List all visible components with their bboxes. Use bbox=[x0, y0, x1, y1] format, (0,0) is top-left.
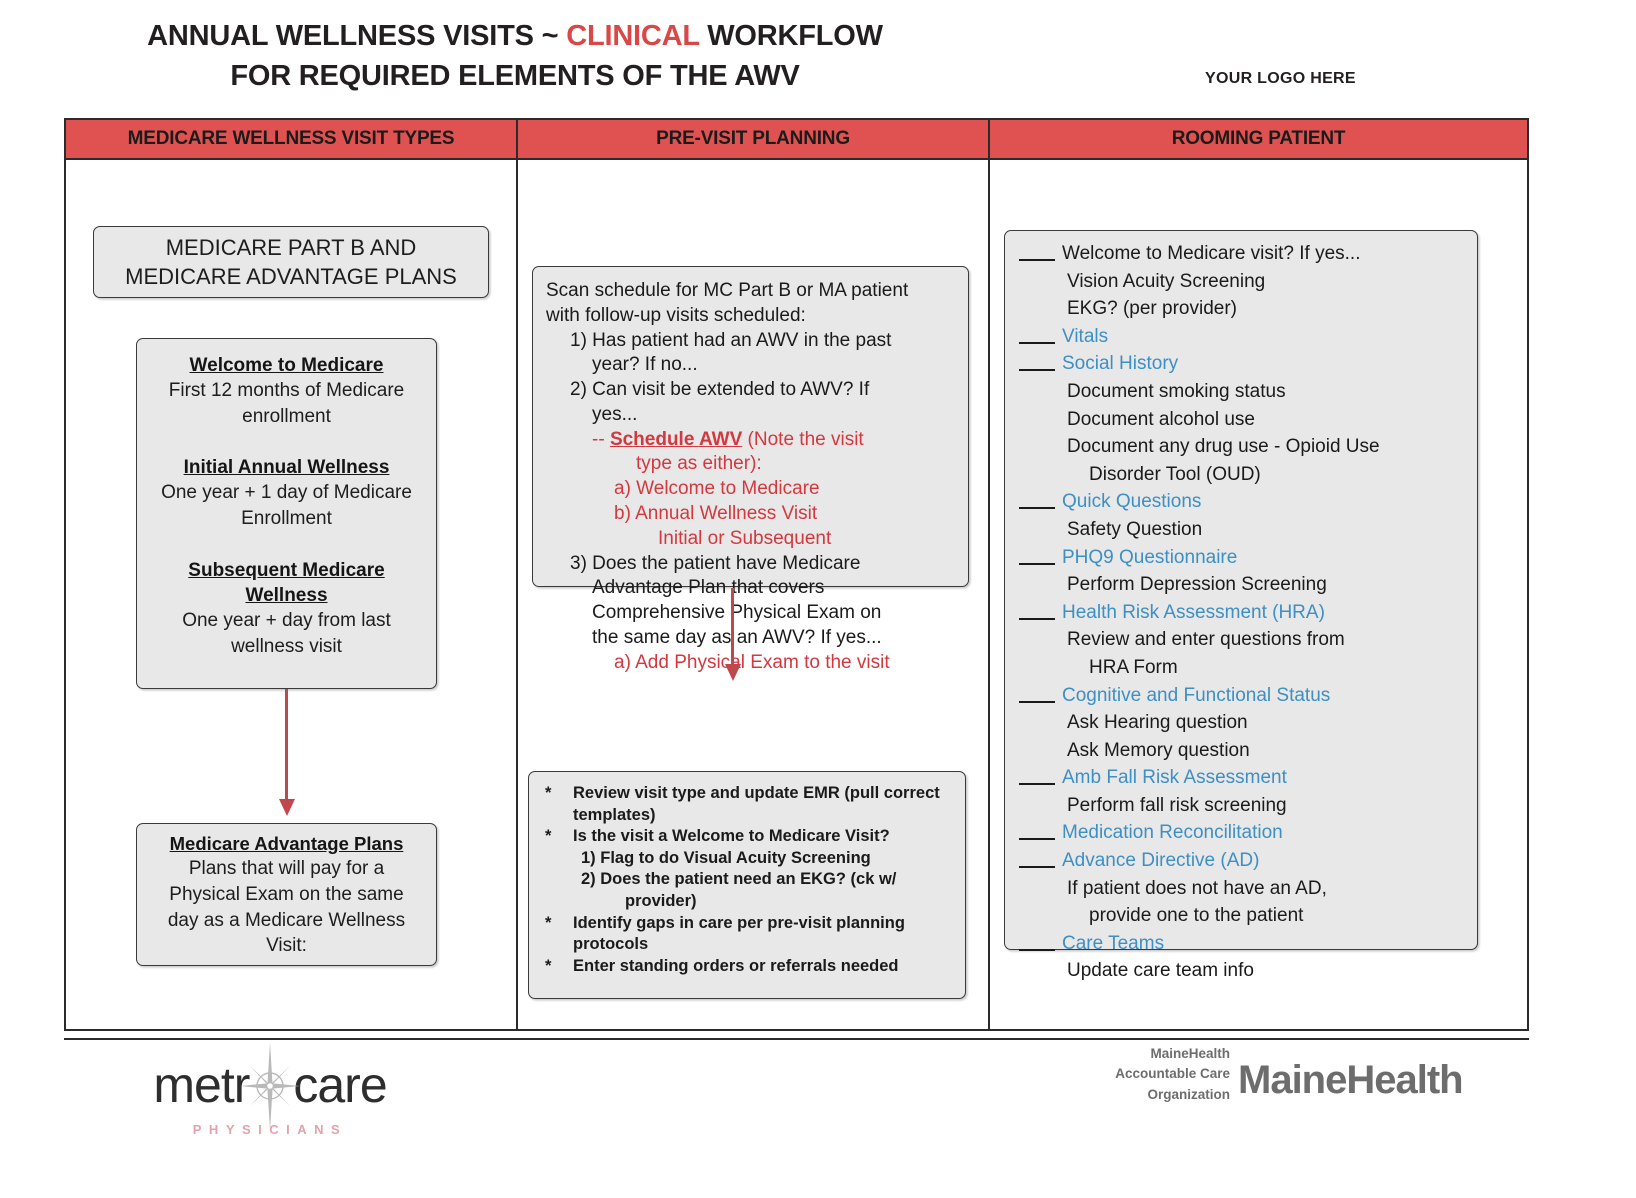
plans-line-2: MEDICARE ADVANTAGE PLANS bbox=[125, 262, 457, 291]
review-bullet-2-sub-2-cont: provider) bbox=[541, 891, 953, 913]
checklist-section-heading: Social History bbox=[1062, 350, 1178, 378]
column-header-row: MEDICARE WELLNESS VISIT TYPES PRE-VISIT … bbox=[66, 120, 1527, 160]
checklist-blank-line[interactable] bbox=[1019, 838, 1055, 840]
metrocare-logo: metrcare PHYSICIANS bbox=[120, 1048, 420, 1143]
checklist-blank-line[interactable] bbox=[1019, 342, 1055, 344]
checklist-blank-line[interactable] bbox=[1019, 949, 1055, 951]
checklist-item-text: Document any drug use - Opioid Use bbox=[1067, 433, 1380, 461]
checklist-item-text: Perform Depression Screening bbox=[1067, 571, 1327, 599]
schedule-awv-line-cont: type as either): bbox=[546, 452, 955, 477]
checklist-row: provide one to the patient bbox=[1005, 903, 1477, 931]
checklist-row: Amb Fall Risk Assessment bbox=[1005, 765, 1477, 793]
title-part-clinical: CLINICAL bbox=[566, 20, 699, 52]
column-header-visit-types: MEDICARE WELLNESS VISIT TYPES bbox=[66, 120, 518, 158]
review-bullet-4: *Enter standing orders or referrals need… bbox=[541, 956, 953, 978]
bullet-marker-icon: * bbox=[545, 956, 551, 978]
checklist-item-text: EKG? (per provider) bbox=[1067, 295, 1237, 323]
subsequent-medicare-wellness-heading-1: Subsequent Medicare bbox=[149, 558, 424, 583]
welcome-to-medicare-heading: Welcome to Medicare bbox=[149, 353, 424, 378]
checklist-row: Review and enter questions from bbox=[1005, 627, 1477, 655]
mainehealth-wordmark: MaineHealth bbox=[1238, 1058, 1463, 1103]
scan-step-2: 2) Can visit be extended to AWV? If bbox=[546, 378, 955, 403]
schedule-awv-line: -- Schedule AWV (Note the visit bbox=[546, 428, 955, 453]
box-visit-type-definitions: Welcome to Medicare First 12 months of M… bbox=[136, 338, 437, 689]
checklist-blank-line[interactable] bbox=[1019, 369, 1055, 371]
ma-plans-line-1: Plans that will pay for a bbox=[151, 856, 422, 882]
column-body-row: MEDICARE PART B AND MEDICARE ADVANTAGE P… bbox=[66, 160, 1527, 1029]
review-bullet-3: *Identify gaps in care per pre-visit pla… bbox=[541, 913, 953, 935]
review-bullet-3-cont: protocols bbox=[541, 934, 953, 956]
scan-step-1-cont: year? If no... bbox=[546, 353, 955, 378]
checklist-row: EKG? (per provider) bbox=[1005, 296, 1477, 324]
initial-annual-wellness-heading: Initial Annual Wellness bbox=[149, 455, 424, 480]
title-line-1: ANNUAL WELLNESS VISITS ~ CLINICAL WORKFL… bbox=[0, 16, 1030, 56]
checklist-blank-line[interactable] bbox=[1019, 259, 1055, 261]
review-bullet-1: *Review visit type and update EMR (pull … bbox=[541, 783, 953, 805]
checklist-row: Cognitive and Functional Status bbox=[1005, 683, 1477, 711]
review-bullet-2-text: Is the visit a Welcome to Medicare Visit… bbox=[573, 827, 890, 845]
initial-annual-wellness-desc-1: One year + 1 day of Medicare bbox=[149, 480, 424, 506]
add-physical-exam-line: a) Add Physical Exam to the visit bbox=[546, 651, 955, 676]
checklist-item-text: Document smoking status bbox=[1067, 378, 1286, 406]
checklist-item-text: Disorder Tool (OUD) bbox=[1089, 461, 1261, 489]
checklist-item-text: Welcome to Medicare visit? If yes... bbox=[1062, 240, 1360, 268]
checklist-row: Ask Memory question bbox=[1005, 738, 1477, 766]
checklist-item-text: Perform fall risk screening bbox=[1067, 792, 1287, 820]
scan-line-2: with follow-up visits scheduled: bbox=[546, 304, 955, 329]
checklist-row: Perform Depression Screening bbox=[1005, 572, 1477, 600]
checklist-row: HRA Form bbox=[1005, 655, 1477, 683]
schedule-awv-suffix: (Note the visit bbox=[742, 429, 863, 450]
mainehealth-aco-line-1: MaineHealth bbox=[1060, 1044, 1230, 1064]
schedule-awv-emphasis: Schedule AWV bbox=[610, 429, 742, 450]
box-rooming-checklist: Welcome to Medicare visit? If yes...Visi… bbox=[1004, 230, 1478, 950]
checklist-row: Document alcohol use bbox=[1005, 407, 1477, 435]
review-bullet-4-text: Enter standing orders or referrals neede… bbox=[573, 957, 899, 975]
schedule-awv-option-a: a) Welcome to Medicare bbox=[546, 477, 955, 502]
review-bullet-1-text: Review visit type and update EMR (pull c… bbox=[573, 784, 940, 802]
page-title: ANNUAL WELLNESS VISITS ~ CLINICAL WORKFL… bbox=[0, 16, 1030, 96]
checklist-item-text: Document alcohol use bbox=[1067, 406, 1255, 434]
column-rooming-patient: Welcome to Medicare visit? If yes...Visi… bbox=[990, 160, 1527, 1029]
mainehealth-aco-line-2: Accountable Care bbox=[1060, 1064, 1230, 1084]
checklist-row: Advance Directive (AD) bbox=[1005, 848, 1477, 876]
checklist-row: If patient does not have an AD, bbox=[1005, 876, 1477, 904]
metrocare-word-a: metr bbox=[153, 1057, 249, 1113]
scan-step-3: 3) Does the patient have Medicare bbox=[546, 552, 955, 577]
checklist-blank-line[interactable] bbox=[1019, 783, 1055, 785]
box-medicare-plans: MEDICARE PART B AND MEDICARE ADVANTAGE P… bbox=[93, 226, 489, 298]
scan-line-1: Scan schedule for MC Part B or MA patien… bbox=[546, 279, 955, 304]
checklist-section-heading: Amb Fall Risk Assessment bbox=[1062, 764, 1287, 792]
mainehealth-aco-line-3: Organization bbox=[1060, 1085, 1230, 1105]
title-part-a: ANNUAL WELLNESS VISITS ~ bbox=[147, 20, 566, 52]
checklist-section-heading: Vitals bbox=[1062, 323, 1108, 351]
ma-plans-heading: Medicare Advantage Plans bbox=[151, 832, 422, 856]
checklist-row: Medication Reconcilitation bbox=[1005, 820, 1477, 848]
bullet-marker-icon: * bbox=[545, 826, 551, 848]
checklist-row: Update care team info bbox=[1005, 958, 1477, 986]
checklist-section-heading: Care Teams bbox=[1062, 930, 1164, 958]
scan-step-3-cont-3: the same day as an AWV? If yes... bbox=[546, 626, 955, 651]
checklist-row: Document smoking status bbox=[1005, 379, 1477, 407]
schedule-awv-option-b: b) Annual Wellness Visit bbox=[546, 502, 955, 527]
arrow-down-visit-types bbox=[285, 689, 288, 801]
review-bullet-2: *Is the visit a Welcome to Medicare Visi… bbox=[541, 826, 953, 848]
checklist-section-heading: Quick Questions bbox=[1062, 488, 1201, 516]
metrocare-word-b: care bbox=[293, 1057, 386, 1113]
checklist-item-text: Vision Acuity Screening bbox=[1067, 268, 1265, 296]
box-medicare-advantage-plans: Medicare Advantage Plans Plans that will… bbox=[136, 823, 437, 966]
schedule-awv-option-b-cont: Initial or Subsequent bbox=[546, 527, 955, 552]
spacer bbox=[149, 429, 424, 455]
checklist-section-heading: Health Risk Assessment (HRA) bbox=[1062, 599, 1325, 627]
checklist-item-text: Ask Memory question bbox=[1067, 737, 1250, 765]
checklist-row: Perform fall risk screening bbox=[1005, 793, 1477, 821]
schedule-awv-prefix: -- bbox=[592, 429, 610, 450]
scan-step-1: 1) Has patient had an AWV in the past bbox=[546, 329, 955, 354]
subsequent-medicare-wellness-desc-2: wellness visit bbox=[149, 634, 424, 660]
checklist-row: Social History bbox=[1005, 351, 1477, 379]
checklist-row: PHQ9 Questionnaire bbox=[1005, 545, 1477, 573]
arrow-down-pre-visit bbox=[731, 588, 734, 666]
scan-step-3-cont-1: Advantage Plan that covers bbox=[546, 576, 955, 601]
initial-annual-wellness-desc-2: Enrollment bbox=[149, 506, 424, 532]
checklist-row: Quick Questions bbox=[1005, 489, 1477, 517]
checklist-row: Care Teams bbox=[1005, 931, 1477, 959]
checklist-blank-line[interactable] bbox=[1019, 563, 1055, 565]
checklist-section-heading: PHQ9 Questionnaire bbox=[1062, 544, 1237, 572]
metrocare-tagline: PHYSICIANS bbox=[120, 1122, 420, 1137]
checklist-item-text: Ask Hearing question bbox=[1067, 709, 1248, 737]
review-bullet-2-sub-1: 1) Flag to do Visual Acuity Screening bbox=[541, 848, 953, 870]
checklist-blank-line[interactable] bbox=[1019, 618, 1055, 620]
checklist-row: Ask Hearing question bbox=[1005, 710, 1477, 738]
checklist-row: Vision Acuity Screening bbox=[1005, 269, 1477, 297]
box-scan-schedule: Scan schedule for MC Part B or MA patien… bbox=[532, 266, 969, 587]
review-bullet-1-cont: templates) bbox=[541, 805, 953, 827]
column-pre-visit-planning: Scan schedule for MC Part B or MA patien… bbox=[518, 160, 990, 1029]
checklist-blank-line[interactable] bbox=[1019, 701, 1055, 703]
title-part-b: WORKFLOW bbox=[699, 20, 882, 52]
checklist-item-text: Safety Question bbox=[1067, 516, 1202, 544]
mainehealth-logo: MaineHealth Accountable Care Organizatio… bbox=[1060, 1044, 1230, 1105]
checklist-section-heading: Cognitive and Functional Status bbox=[1062, 682, 1330, 710]
checklist-item-text: provide one to the patient bbox=[1089, 902, 1303, 930]
box-review-visit-type: *Review visit type and update EMR (pull … bbox=[528, 771, 966, 999]
review-bullet-2-sub-2: 2) Does the patient need an EKG? (ck w/ bbox=[541, 869, 953, 891]
subsequent-medicare-wellness-desc-1: One year + day from last bbox=[149, 608, 424, 634]
subsequent-medicare-wellness-heading-2: Wellness bbox=[149, 583, 424, 608]
spacer bbox=[149, 532, 424, 558]
welcome-to-medicare-desc-1: First 12 months of Medicare bbox=[149, 378, 424, 404]
welcome-to-medicare-desc-2: enrollment bbox=[149, 404, 424, 430]
bullet-marker-icon: * bbox=[545, 783, 551, 805]
workflow-table: MEDICARE WELLNESS VISIT TYPES PRE-VISIT … bbox=[64, 118, 1529, 1031]
workflow-poster: ANNUAL WELLNESS VISITS ~ CLINICAL WORKFL… bbox=[0, 0, 1636, 1198]
checklist-item-text: Update care team info bbox=[1067, 957, 1254, 985]
column-header-pre-visit-planning: PRE-VISIT PLANNING bbox=[518, 120, 990, 158]
scan-step-2-cont: yes... bbox=[546, 403, 955, 428]
checklist-row: Safety Question bbox=[1005, 517, 1477, 545]
checklist-row: Vitals bbox=[1005, 324, 1477, 352]
checklist-blank-line[interactable] bbox=[1019, 866, 1055, 868]
column-visit-types: MEDICARE PART B AND MEDICARE ADVANTAGE P… bbox=[66, 160, 518, 1029]
checklist-item-text: Review and enter questions from bbox=[1067, 626, 1345, 654]
bullet-marker-icon: * bbox=[545, 913, 551, 935]
logo-placeholder: YOUR LOGO HERE bbox=[1205, 70, 1356, 88]
checklist-section-heading: Advance Directive (AD) bbox=[1062, 847, 1259, 875]
checklist-item-text: If patient does not have an AD, bbox=[1067, 875, 1327, 903]
checklist-row: Health Risk Assessment (HRA) bbox=[1005, 600, 1477, 628]
checklist-row: Welcome to Medicare visit? If yes... bbox=[1005, 241, 1477, 269]
checklist-row: Disorder Tool (OUD) bbox=[1005, 462, 1477, 490]
checklist-row: Document any drug use - Opioid Use bbox=[1005, 434, 1477, 462]
column-header-rooming-patient: ROOMING PATIENT bbox=[990, 120, 1527, 158]
checklist-item-text: HRA Form bbox=[1089, 654, 1178, 682]
compass-rose-icon bbox=[238, 1040, 302, 1132]
ma-plans-line-4: Visit: bbox=[151, 933, 422, 959]
title-line-2: FOR REQUIRED ELEMENTS OF THE AWV bbox=[0, 56, 1030, 96]
plans-line-1: MEDICARE PART B AND bbox=[166, 233, 417, 262]
checklist-section-heading: Medication Reconcilitation bbox=[1062, 819, 1283, 847]
checklist-blank-line[interactable] bbox=[1019, 507, 1055, 509]
ma-plans-line-2: Physical Exam on the same bbox=[151, 882, 422, 908]
ma-plans-line-3: day as a Medicare Wellness bbox=[151, 908, 422, 934]
scan-step-3-cont-2: Comprehensive Physical Exam on bbox=[546, 601, 955, 626]
review-bullet-3-text: Identify gaps in care per pre-visit plan… bbox=[573, 914, 905, 932]
